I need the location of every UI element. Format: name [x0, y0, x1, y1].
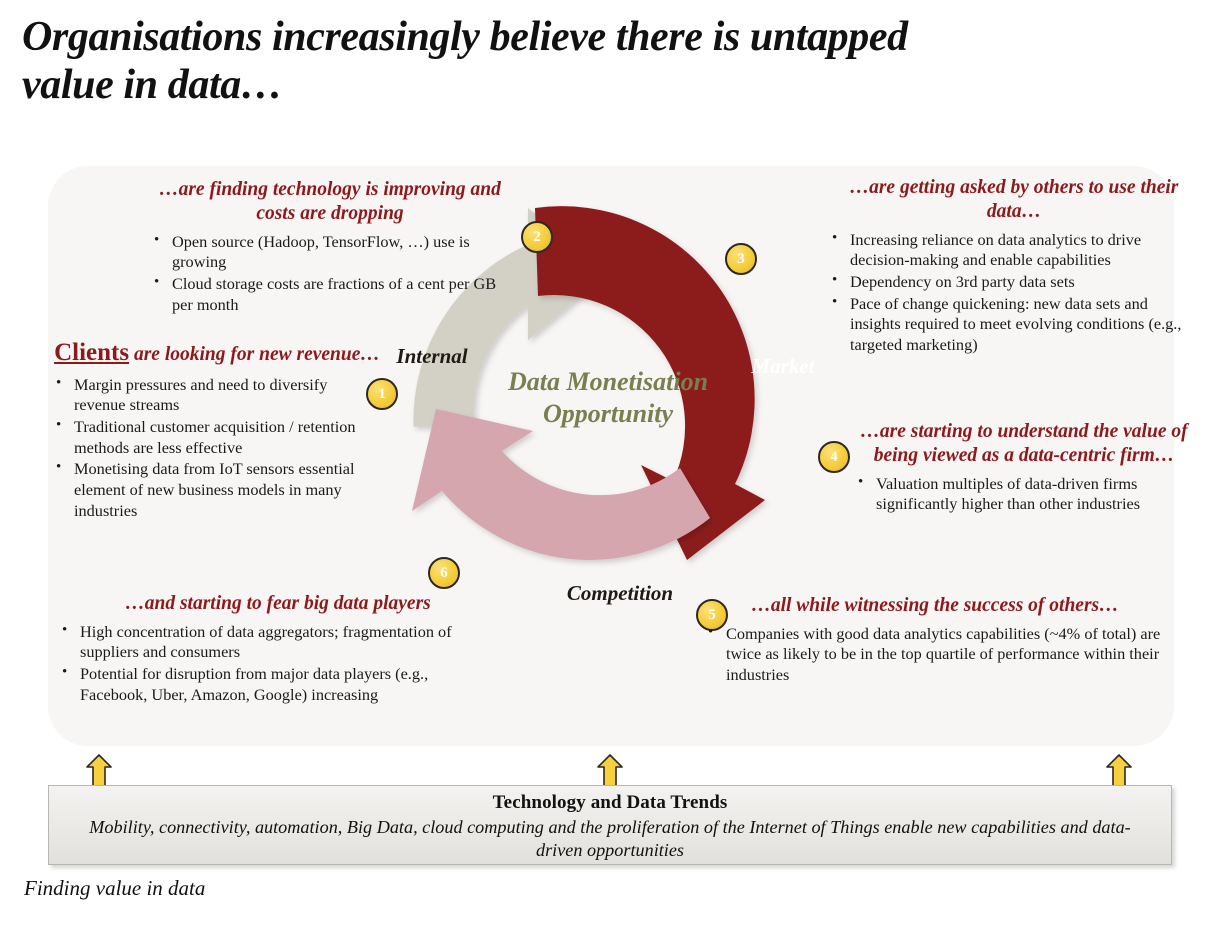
- list-item: Companies with good data analytics capab…: [700, 624, 1170, 686]
- banner-title: Technology and Data Trends: [49, 792, 1171, 814]
- list-item: Open source (Hadoop, TensorFlow, …) use …: [150, 232, 510, 273]
- cycle-label-internal: Internal: [372, 344, 492, 369]
- block-bullets: Open source (Hadoop, TensorFlow, …) use …: [150, 232, 510, 316]
- list-item: Cloud storage costs are fractions of a c…: [150, 274, 510, 315]
- block-heading: Clients are looking for new revenue…: [52, 338, 382, 369]
- list-item: Monetising data from IoT sensors essenti…: [52, 459, 382, 521]
- cycle-badge-4: 4: [818, 441, 850, 473]
- block-heading: …all while witnessing the success of oth…: [700, 594, 1170, 618]
- up-arrow-icon-left: [86, 754, 112, 788]
- text-block-success: …all while witnessing the success of oth…: [700, 594, 1170, 687]
- slide-root: Organisations increasingly believe there…: [0, 0, 1222, 926]
- up-arrow-icon-center: [597, 754, 623, 788]
- trends-banner: Technology and Data Trends Mobility, con…: [48, 785, 1172, 865]
- list-item: Valuation multiples of data-driven firms…: [850, 474, 1198, 515]
- list-item: High concentration of data aggregators; …: [58, 622, 498, 663]
- text-block-market-asked: …are getting asked by others to use thei…: [828, 176, 1200, 357]
- up-arrow-icon-right: [1106, 754, 1132, 788]
- block-heading: …and starting to fear big data players: [58, 592, 498, 616]
- list-item: Potential for disruption from major data…: [58, 664, 498, 705]
- block-heading: …are getting asked by others to use thei…: [828, 176, 1200, 224]
- cycle-badge-3: 3: [725, 243, 757, 275]
- block-heading-rest: are looking for new revenue…: [134, 344, 380, 365]
- text-block-clients: Clients are looking for new revenue… Mar…: [52, 338, 382, 522]
- page-title: Organisations increasingly believe there…: [22, 14, 922, 110]
- block-bullets: Margin pressures and need to diversify r…: [52, 375, 382, 522]
- list-item: Pace of change quickening: new data sets…: [828, 294, 1200, 356]
- list-item: Dependency on 3rd party data sets: [828, 272, 1200, 293]
- block-bullets: Increasing reliance on data analytics to…: [828, 230, 1200, 356]
- list-item: Increasing reliance on data analytics to…: [828, 230, 1200, 271]
- block-bullets: Companies with good data analytics capab…: [700, 624, 1170, 686]
- block-heading-lead: Clients: [54, 339, 129, 366]
- list-item: Margin pressures and need to diversify r…: [52, 375, 382, 416]
- text-block-internal-tech: …are finding technology is improving and…: [150, 178, 510, 316]
- banner-subtitle: Mobility, connectivity, automation, Big …: [49, 816, 1171, 862]
- block-heading: …are starting to understand the value of…: [850, 420, 1198, 468]
- block-bullets: Valuation multiples of data-driven firms…: [850, 474, 1198, 515]
- cycle-label-market: Market: [728, 354, 838, 379]
- text-block-data-centric: …are starting to understand the value of…: [850, 420, 1198, 516]
- text-block-fear: …and starting to fear big data players H…: [58, 592, 498, 707]
- list-item: Traditional customer acquisition / reten…: [52, 417, 382, 458]
- block-heading: …are finding technology is improving and…: [150, 178, 510, 226]
- cycle-label-competition: Competition: [530, 581, 710, 606]
- cycle-badge-2: 2: [521, 221, 553, 253]
- cycle-badge-6: 6: [428, 557, 460, 589]
- block-bullets: High concentration of data aggregators; …: [58, 622, 498, 706]
- cycle-center-label: Data Monetisation Opportunity: [500, 366, 716, 429]
- cycle-segment-competition: [412, 409, 710, 560]
- slide-caption: Finding value in data: [24, 876, 205, 901]
